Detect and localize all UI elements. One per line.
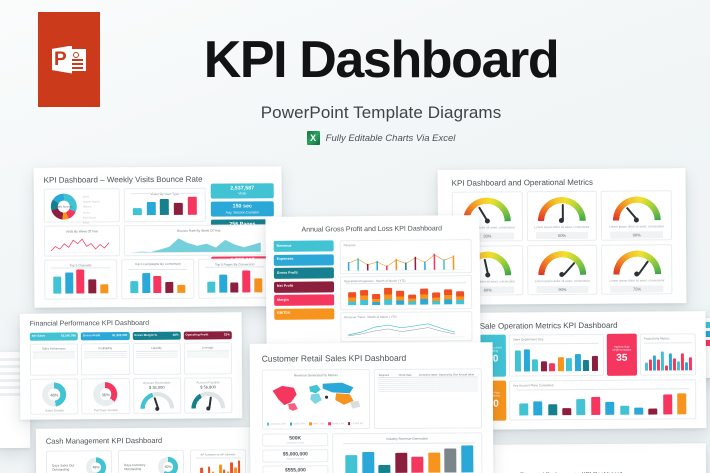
legend-item: Nordics 9% bbox=[332, 422, 344, 425]
gauge-value: 75% bbox=[611, 285, 664, 292]
panel-revenue[interactable]: Revenue bbox=[340, 239, 472, 274]
bar-chart-account-plans bbox=[516, 388, 689, 415]
kpi-card[interactable]: Gross Profit $1,200,000 bbox=[81, 332, 129, 340]
kpi-label: Gross Profit bbox=[83, 335, 100, 338]
slide-title: Customer Retail Sales KPI Dashboard bbox=[262, 353, 407, 364]
panel-sales-department-size[interactable]: Sales Department Size bbox=[509, 334, 604, 377]
excel-note-row: Fully Editable Charts Via Excel bbox=[0, 131, 710, 145]
metric-label: Days Sales Out Outstanding bbox=[52, 463, 82, 471]
gauge-value: 90% bbox=[610, 231, 663, 238]
slide-title: Sale Operation Metrics KPI Dashboard bbox=[480, 321, 618, 331]
page-subtitle: PowerPoint Template Diagrams bbox=[0, 103, 710, 123]
metric-table[interactable]: Liquidity bbox=[132, 343, 180, 375]
table-cell bbox=[418, 390, 438, 392]
slide-customer-retail-sales[interactable]: Customer Retail Sales KPI Dashboard Reve… bbox=[250, 342, 494, 473]
kpi-card[interactable]: 500K Customer Count bbox=[262, 433, 328, 446]
legend-item: Direct bbox=[83, 195, 100, 198]
kpi-value: $1,200,000 bbox=[112, 334, 127, 337]
donut-chart: 36% bbox=[93, 382, 117, 406]
kpi-card[interactable]: Revenue bbox=[274, 240, 334, 252]
kpi-card[interactable]: EBITDA bbox=[274, 308, 334, 320]
table-cell bbox=[378, 390, 398, 392]
metric-table[interactable]: Profitability bbox=[81, 343, 129, 375]
chart-title: Productivity Metrics bbox=[644, 336, 695, 340]
kpi-card[interactable]: Gross Profit bbox=[274, 267, 334, 279]
chart-title: Revenue Generated by Market bbox=[263, 373, 369, 378]
kpi-pill-list: Revenue Expenses Gross Profit Net Profit… bbox=[274, 240, 335, 319]
kpi-stack: 500K Customer Count $5,000,000 Annual Re… bbox=[262, 433, 328, 473]
gauge-card[interactable]: Account Payable $ 56,800 bbox=[184, 377, 233, 413]
slide-gross-profit-loss[interactable]: Annual Gross Profit and Loss KPI Dashboa… bbox=[265, 215, 480, 351]
bar-chart-visitor-type bbox=[131, 193, 199, 215]
legend-item: LATAM 6% bbox=[352, 422, 364, 425]
kpi-label: Margin bbox=[277, 298, 289, 302]
chart-title: Key Account Plans Completed bbox=[513, 382, 695, 387]
panel-ap-turnover[interactable]: AP Turnover vs AP Turnover bbox=[190, 449, 246, 473]
slide-title: Cash Management KPI Dashboard bbox=[46, 436, 162, 446]
donut-value: 48% bbox=[86, 457, 106, 473]
kpi-label: Customer Count bbox=[286, 441, 303, 444]
gauge-card[interactable]: Lorem ipsum dolor sit amet, consectetur … bbox=[527, 245, 598, 295]
kpi-label: Expenses bbox=[277, 258, 294, 262]
chart-title: Bounce Rate By Week Of Year bbox=[125, 228, 273, 233]
slide-title: Financial Performance KPI Dashboard bbox=[30, 320, 149, 328]
kpi-value: $555,000 bbox=[285, 467, 306, 473]
kpi-card[interactable]: Expenses bbox=[274, 254, 334, 266]
donut-value: 60% bbox=[158, 457, 178, 473]
kpi-label: Annual Revenue bbox=[286, 457, 304, 460]
bar-chart-department-size bbox=[514, 343, 599, 372]
kpi-bar-row: Net Sales $2,550,000 Gross Profit $1,200… bbox=[30, 331, 232, 340]
panel-productivity-metrics[interactable]: Productivity Metrics bbox=[640, 333, 696, 375]
slide-title: Annual Gross Profit and Loss KPI Dashboa… bbox=[302, 225, 443, 233]
page-title: KPI Dashboard bbox=[0, 34, 710, 86]
world-map bbox=[265, 378, 369, 413]
gauge-value: $ 35,000 bbox=[134, 385, 180, 390]
gauge-chart bbox=[612, 196, 660, 220]
panel-visits-by-week[interactable]: Visits By Week Of Year bbox=[44, 225, 120, 256]
legend-item: Referral bbox=[83, 206, 100, 209]
panel-revenue-trend[interactable]: Revenue Trend - Month of March | YTD bbox=[340, 311, 472, 342]
kpi-value: $2,550,000 bbox=[61, 335, 76, 338]
metric-table[interactable]: Sales Performance bbox=[30, 343, 78, 375]
slide-financial-performance[interactable]: Financial Performance KPI Dashboard Net … bbox=[20, 312, 243, 420]
donut-label: Purchase Growth bbox=[83, 408, 129, 412]
legend-item: Organic Search bbox=[83, 201, 100, 204]
bar-chart-top5-campaigns bbox=[128, 269, 187, 293]
donut-value: 48% bbox=[42, 382, 66, 406]
kpi-value: 48% bbox=[173, 334, 179, 337]
kpi-label: Net Profit bbox=[277, 285, 293, 289]
gauge-chart bbox=[191, 391, 225, 408]
slide-weekly-visits-bounce-rate[interactable]: KPI Dashboard – Weekly Visits Bounce Rat… bbox=[34, 166, 283, 308]
kpi-label: Visits bbox=[238, 192, 246, 196]
gauge-card[interactable]: Lorem ipsum dolor sit amet, consectetur … bbox=[601, 244, 672, 294]
donut-chart: 60% bbox=[158, 457, 178, 473]
donut-card[interactable]: 36% Purchase Growth bbox=[81, 378, 130, 414]
panel-top5-channels[interactable]: Top 5 Channels bbox=[44, 259, 117, 299]
kpi-card[interactable]: Operating Profit 22% bbox=[184, 331, 232, 339]
slide-title: KPI Dashboard and Operational Metrics bbox=[452, 178, 593, 188]
gauge-value: 90% bbox=[536, 286, 589, 293]
bar-chart-industry-revenue bbox=[343, 442, 475, 473]
kpi-label: Avg. Session Duration bbox=[226, 210, 260, 214]
traffic-sources-donut: Traffic Sources bbox=[51, 193, 77, 219]
donut-label: Sales Growth bbox=[31, 408, 77, 412]
kpi-card[interactable]: $5,000,000 Annual Revenue bbox=[262, 449, 328, 462]
panel-bounce-rate-by-week[interactable]: Bounce Rate By Week Of Year bbox=[124, 224, 274, 256]
slide-financial-performance-partial[interactable]: Financial Performance KPI Dashboard bbox=[492, 443, 706, 473]
kpi-label: Gross Margin % bbox=[134, 334, 157, 337]
gauge-chart bbox=[140, 392, 174, 409]
kpi-card[interactable]: $555,000 Monthly Revenue bbox=[262, 465, 328, 473]
bar-chart-top5-pages bbox=[205, 266, 264, 292]
slide-cash-management[interactable]: Cash Management KPI Dashboard Days Sales… bbox=[36, 427, 254, 473]
kpi-card[interactable]: Gross Margin % 48% bbox=[132, 332, 180, 340]
gauge-chart bbox=[538, 197, 586, 221]
panel-operational-expenses[interactable]: Operational Expenses - Month of March | … bbox=[340, 275, 472, 310]
panel-key-account-plans[interactable]: Key Account Plans Completed bbox=[509, 379, 696, 420]
gauge-value: 50% bbox=[536, 232, 589, 239]
gauge-chart bbox=[613, 250, 661, 274]
excel-icon bbox=[307, 131, 320, 145]
donut-value: 36% bbox=[93, 382, 117, 406]
donut-center-label: Traffic Sources bbox=[55, 205, 72, 208]
kpi-label: Net Sales bbox=[32, 335, 46, 338]
bar-chart-top5-channels bbox=[51, 267, 110, 293]
gauge-card[interactable]: Account Receivable $ 35,000 bbox=[133, 378, 182, 414]
panel-industry-revenue[interactable]: Industry Revenue Generation bbox=[332, 432, 482, 473]
kpi-card[interactable]: 2,537,587 Visits bbox=[211, 183, 274, 198]
stacked-bar-chart-expenses bbox=[346, 282, 466, 305]
legend-item: Social bbox=[83, 211, 100, 214]
line-chart-visits bbox=[49, 235, 117, 255]
kpi-card-big[interactable]: Highest Sale Representative 35 bbox=[607, 334, 637, 376]
kpi-value: 22% bbox=[224, 334, 230, 337]
gauge-value: $ 56,800 bbox=[185, 384, 231, 389]
chart-title: Visits By Week Of Year bbox=[45, 229, 119, 233]
kpi-label: EBITDA bbox=[277, 312, 290, 316]
chart-title: Revenue bbox=[344, 242, 471, 247]
legend-item: EMEA 24% bbox=[293, 422, 305, 425]
poster-header: P KPI Dashboard PowerPoint Template Diag… bbox=[0, 0, 710, 155]
data-table[interactable]: Segment Close Date Company Name Opportun… bbox=[378, 372, 478, 392]
donut-card[interactable]: 48% Sales Growth bbox=[30, 378, 79, 414]
gauge-card[interactable]: Lorem ipsum dolor sit amet, consectetur … bbox=[526, 191, 597, 241]
donut-chart: 48% bbox=[86, 457, 106, 473]
kpi-label: Highest Sale Representative bbox=[607, 345, 637, 352]
chart-title: AP Turnover vs AP Turnover bbox=[191, 452, 245, 456]
line-chart-revenue-trend bbox=[344, 319, 468, 340]
chart-title: Sales Department Size bbox=[513, 337, 603, 342]
panel-opportunity-table[interactable]: Segment Close Date Company Name Opportun… bbox=[374, 368, 482, 429]
cash-metric-card[interactable]: Days Sales Out Outstanding 48% bbox=[46, 450, 112, 473]
kpi-label: Operating Profit bbox=[186, 334, 209, 337]
gauge-label: Lorem ipsum dolor sit amet, consectetur bbox=[602, 224, 671, 228]
bar-chart-productivity bbox=[644, 342, 692, 370]
slide-title: KPI Dashboard – Weekly Visits Bounce Rat… bbox=[44, 175, 203, 185]
gauge-card[interactable]: Lorem ipsum dolor sit amet, consectetur … bbox=[601, 190, 672, 240]
gauge-grid: Lorem ipsum dolor sit amet, consectetur … bbox=[452, 190, 673, 296]
kpi-card[interactable]: Net Sales $2,550,000 bbox=[30, 332, 78, 340]
table-cell bbox=[398, 390, 418, 392]
gauge-label: Lorem ipsum dolor sit amet, consectetur bbox=[528, 279, 597, 283]
kpi-card[interactable]: Net Profit bbox=[274, 281, 334, 293]
metric-table-row: Sales Performance Profitability Liquidit… bbox=[30, 342, 232, 375]
table-cell bbox=[438, 389, 458, 391]
metric-label: Days Inventory Outstanding bbox=[124, 463, 154, 471]
gauge-chart bbox=[538, 251, 586, 275]
chart-title: Industry Revenue Generation bbox=[333, 436, 481, 441]
bar-chart-ap-turnover bbox=[196, 457, 241, 473]
panel-traffic-sources[interactable]: Traffic Sources Direct Organic Search Re… bbox=[44, 188, 120, 222]
area-chart-bounce-rate bbox=[130, 234, 270, 255]
gauge-label: Lorem ipsum dolor sit amet, consectetur bbox=[603, 278, 672, 282]
legend-item: Email bbox=[83, 221, 100, 224]
excel-note-text: Fully Editable Charts Via Excel bbox=[326, 133, 456, 144]
legend-item: APAC 28% bbox=[313, 422, 325, 425]
poster-root: P KPI Dashboard PowerPoint Template Diag… bbox=[0, 0, 710, 473]
combo-chart-revenue bbox=[344, 248, 468, 273]
panel-revenue-by-market[interactable]: Revenue Generated by Market Americas 33%… bbox=[262, 369, 370, 430]
cash-metric-card[interactable]: Days Inventory Outstanding 60% bbox=[118, 450, 184, 473]
chart-title: Top 5 Campaigns By Conversion bbox=[122, 262, 193, 266]
kpi-card[interactable]: 150 sec Avg. Session Duration bbox=[211, 201, 274, 216]
panel-top5-campaigns[interactable]: Top 5 Campaigns By Conversion bbox=[121, 259, 194, 299]
donut-chart: 48% bbox=[42, 382, 66, 406]
metric-table[interactable]: Leverage bbox=[184, 342, 232, 374]
kpi-value: 35 bbox=[616, 353, 627, 364]
kpi-label: Revenue bbox=[277, 244, 292, 248]
legend-item: Americas 33% bbox=[270, 423, 285, 426]
kpi-card[interactable]: Margin bbox=[274, 294, 334, 306]
panel-top5-pages[interactable]: Top 5 Pages By Conversion bbox=[198, 258, 271, 298]
legend-item: Paid Search bbox=[83, 216, 100, 219]
panel-visitor-by-user-type[interactable]: Visitor By User Type bbox=[124, 188, 206, 223]
table-cell bbox=[458, 389, 478, 391]
slide-sale-operation-metrics[interactable]: Sale Operation Metrics KPI Dashboard Num… bbox=[468, 311, 707, 430]
gauge-label: Lorem ipsum dolor sit amet, consectetur bbox=[528, 225, 597, 229]
kpi-label: Gross Profit bbox=[277, 271, 298, 275]
donut-gauge-row: 48% Sales Growth 36% Purchase Growth Acc… bbox=[30, 377, 232, 414]
